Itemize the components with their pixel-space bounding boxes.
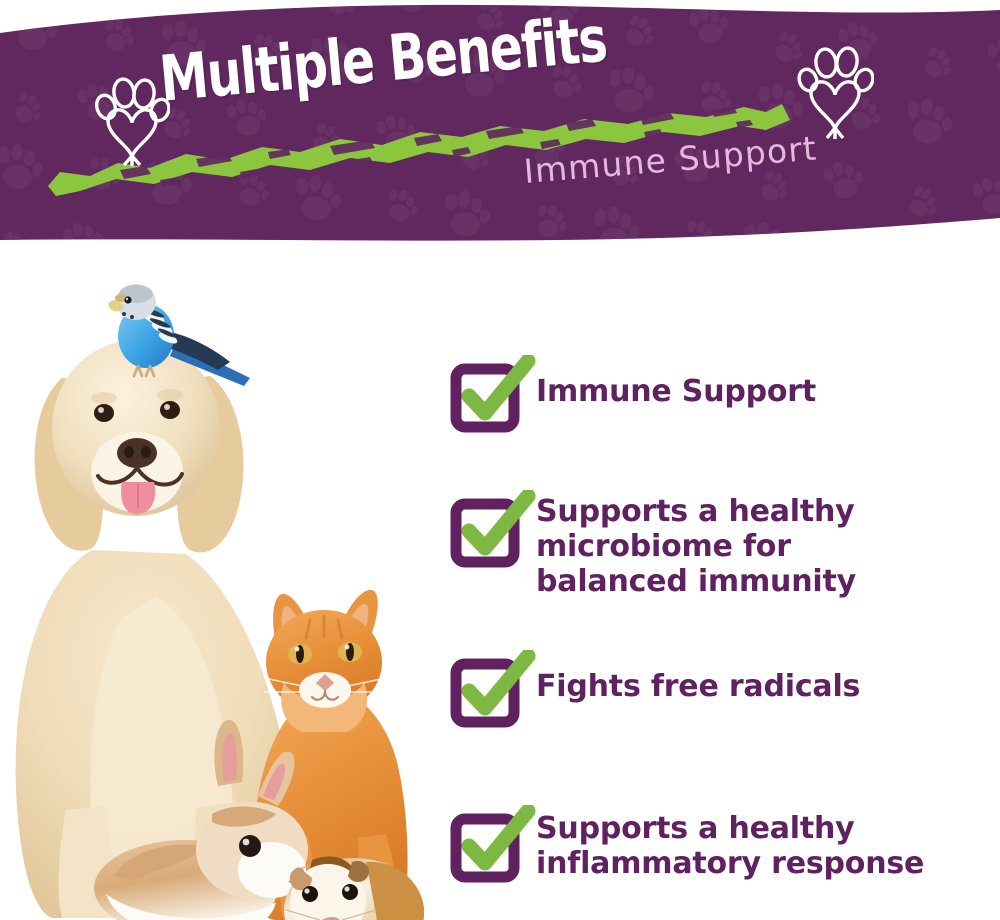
checkbox-checked-icon	[450, 355, 536, 433]
checkbox-checked-icon	[450, 490, 536, 568]
paw-heart-icon-right	[792, 40, 874, 140]
header-banner: Multiple Benefits Immune Support	[0, 0, 1000, 255]
checkbox-checked-icon	[450, 805, 536, 883]
benefit-text: Fights free radicals	[536, 650, 946, 704]
benefit-text: Supports a healthy microbiome for balanc…	[536, 490, 946, 599]
benefits-list: Immune Support Supports a healthy microb…	[450, 250, 990, 920]
paw-heart-icon-left	[88, 70, 170, 166]
pets-photo	[0, 250, 440, 920]
benefit-item: Immune Support	[450, 355, 946, 433]
benefit-item: Supports a healthy inflammatory response	[450, 805, 946, 883]
benefit-item: Fights free radicals	[450, 650, 946, 728]
benefit-text: Immune Support	[536, 355, 946, 409]
benefit-text: Supports a healthy inflammatory response	[536, 805, 946, 881]
benefit-item: Supports a healthy microbiome for balanc…	[450, 490, 946, 599]
checkbox-checked-icon	[450, 650, 536, 728]
